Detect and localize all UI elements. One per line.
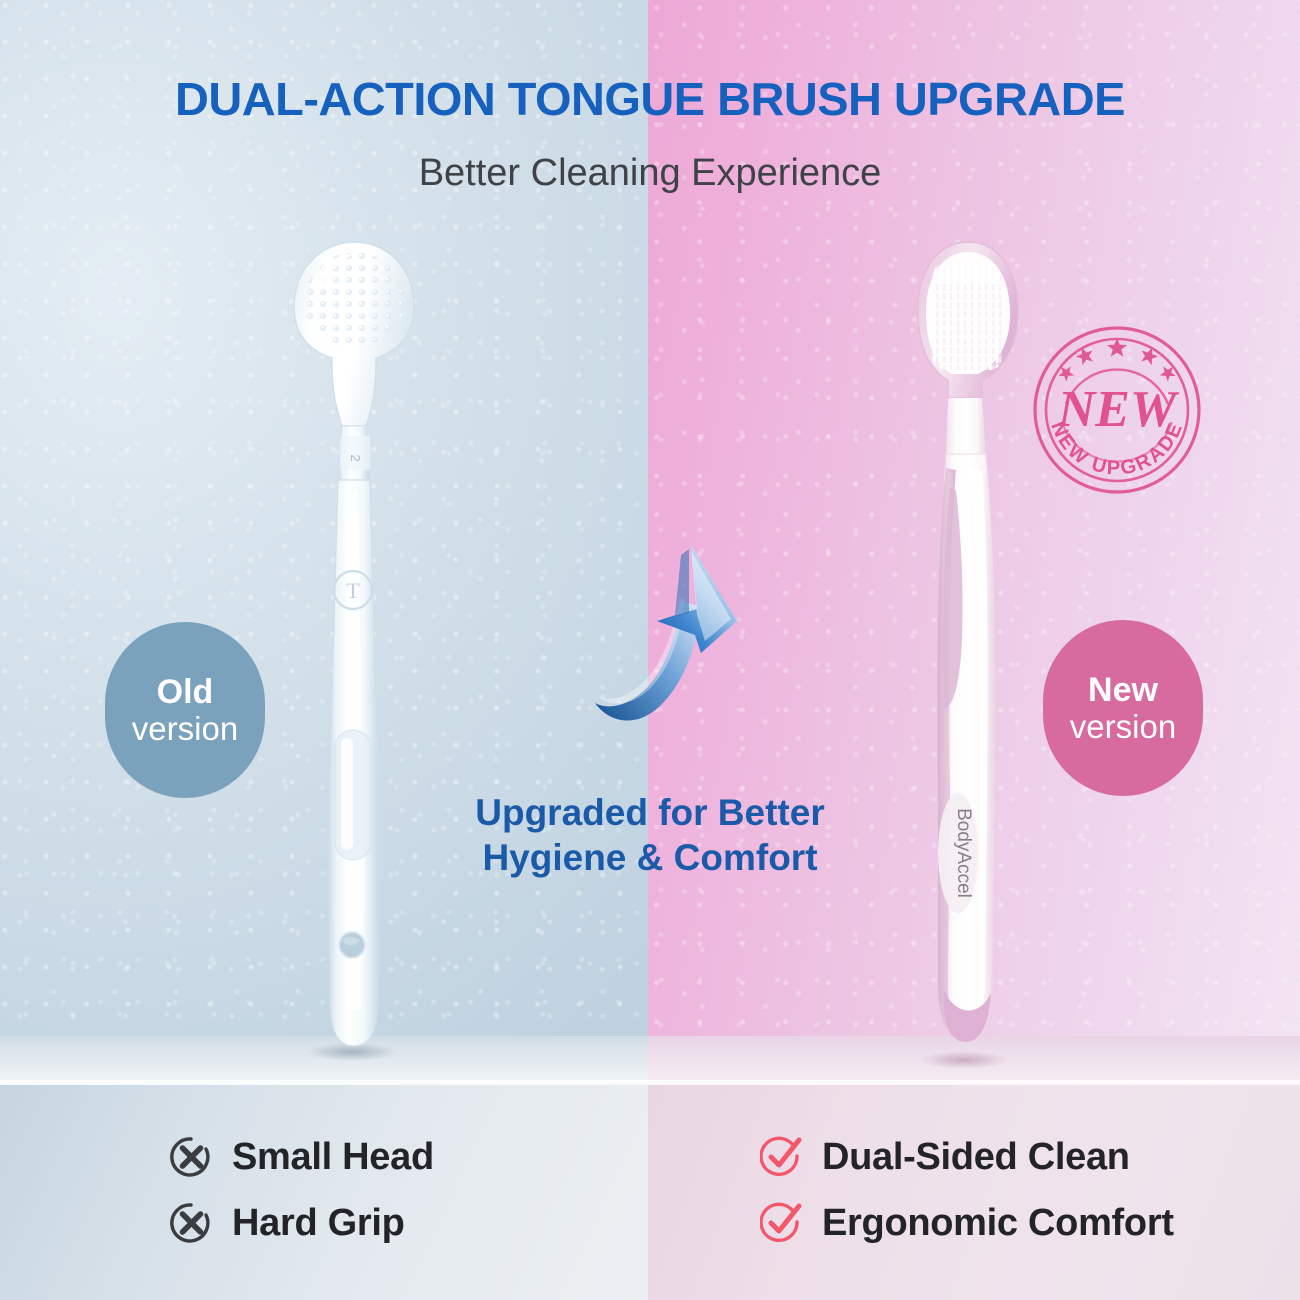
new-upgrade-stamp: NEW NEW UPGRADE (1022, 318, 1212, 503)
page-subtitle: Better Cleaning Experience (0, 152, 1300, 195)
old-feature-list: Small Head Hard Grip (170, 1124, 434, 1256)
upgrade-callout-line1: Upgraded for Better (420, 790, 880, 835)
check-circle-icon (760, 1136, 802, 1178)
list-item-label: Ergonomic Comfort (822, 1202, 1174, 1245)
page-title: DUAL-ACTION TONGUE BRUSH UPGRADE (0, 72, 1300, 126)
list-item: Hard Grip (170, 1190, 434, 1256)
curved-up-arrow-icon (585, 535, 765, 795)
old-version-badge: Old version (105, 622, 265, 798)
new-feature-list: Dual-Sided Clean Ergonomic Comfort (760, 1124, 1174, 1256)
list-item-label: Dual-Sided Clean (822, 1136, 1130, 1179)
infographic-canvas: 2 T (0, 0, 1300, 1300)
svg-text:T: T (346, 578, 360, 603)
upgrade-callout: Upgraded for Better Hygiene & Comfort (420, 790, 880, 880)
check-circle-icon (760, 1202, 802, 1244)
new-version-badge: New version (1043, 620, 1203, 796)
x-circle-icon (170, 1202, 212, 1244)
new-version-badge-line2: version (1070, 710, 1176, 744)
stamp-main-text: NEW (1057, 381, 1180, 438)
counter-shelf (0, 1036, 1300, 1086)
old-version-badge-line1: Old (157, 675, 214, 710)
list-item: Ergonomic Comfort (760, 1190, 1174, 1256)
x-circle-icon (170, 1136, 212, 1178)
list-item-label: Hard Grip (232, 1202, 405, 1245)
new-version-badge-line1: New (1088, 673, 1158, 708)
svg-text:2: 2 (348, 454, 363, 461)
list-item-label: Small Head (232, 1136, 434, 1179)
list-item: Small Head (170, 1124, 434, 1190)
upgrade-callout-line2: Hygiene & Comfort (420, 835, 880, 880)
new-tongue-brush-image: BodyAccel (890, 238, 1040, 1068)
list-item: Dual-Sided Clean (760, 1124, 1174, 1190)
old-version-badge-line2: version (132, 712, 238, 746)
brand-label: BodyAccel (953, 808, 974, 898)
old-tongue-brush-image: 2 T (280, 240, 430, 1060)
